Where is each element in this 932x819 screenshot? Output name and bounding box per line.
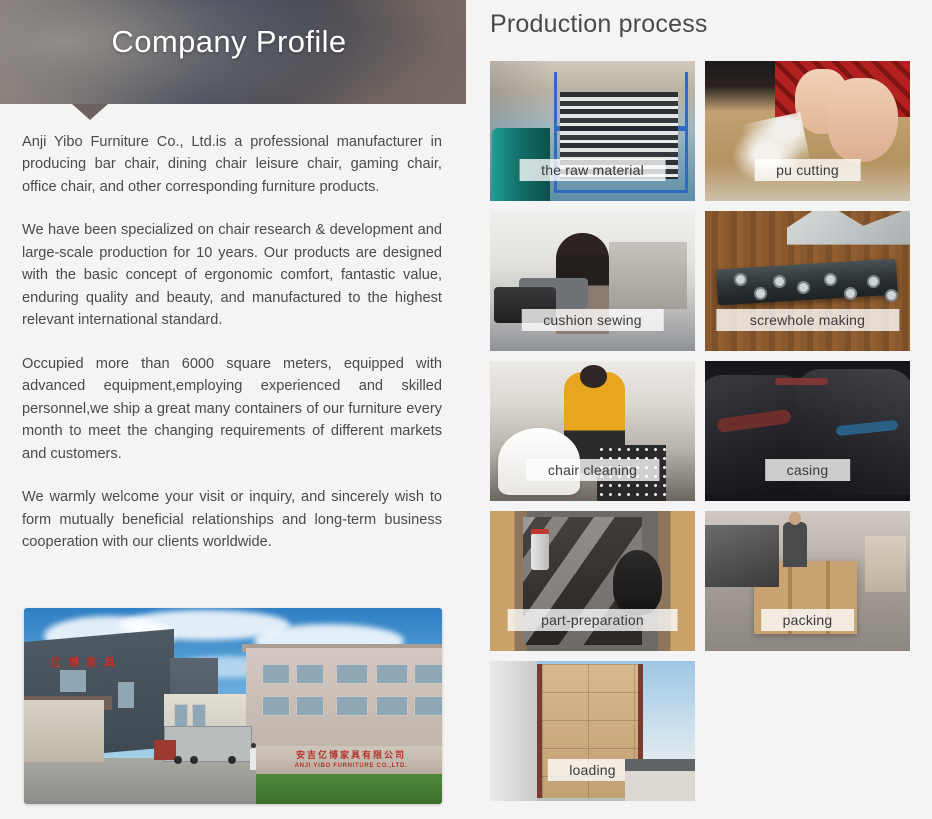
window — [336, 696, 368, 716]
process-step-pu-cutting[interactable]: pu cutting — [705, 61, 910, 201]
step-caption: screwhole making — [716, 309, 899, 331]
screw-hole — [734, 273, 747, 286]
window — [414, 696, 442, 716]
paragraph-2: We have been specialized on chair resear… — [22, 219, 442, 331]
window — [376, 696, 408, 716]
left-column: Company Profile Anji Yibo Furniture Co.,… — [0, 0, 466, 819]
screw-hole — [867, 275, 880, 288]
process-step-cushion-sewing[interactable]: cushion sewing — [490, 211, 695, 351]
process-step-chair-cleaning[interactable]: chair cleaning — [490, 361, 695, 501]
process-step-screwhole-making[interactable]: screwhole making — [705, 211, 910, 351]
chair-trim — [717, 409, 792, 433]
hand — [828, 78, 898, 162]
window — [376, 664, 408, 684]
window — [192, 704, 206, 728]
lawn — [256, 774, 442, 804]
wall-sign-cn: 安吉亿博家具有限公司 — [296, 752, 406, 761]
window — [60, 670, 86, 692]
screw-hole — [754, 287, 767, 300]
step-caption: part-preparation — [507, 609, 678, 631]
workshop-background — [609, 242, 687, 309]
window — [174, 704, 188, 728]
spray-can — [531, 533, 549, 569]
step-caption: the raw material — [519, 159, 666, 181]
screw-hole — [773, 275, 786, 288]
chair-trim — [775, 378, 828, 385]
step-caption: packing — [761, 609, 855, 631]
window — [296, 696, 324, 716]
wall-sign-en: ANJI YIBO FURNITURE CO.,LTD. — [295, 763, 408, 769]
process-step-part-preparation[interactable]: part-preparation — [490, 511, 695, 651]
building-sign-cn: 亿博家具 — [50, 654, 122, 670]
right-column: Production process the raw material pu c… — [466, 0, 932, 819]
hero-notch-triangle — [72, 104, 108, 120]
production-process-title: Production process — [490, 10, 708, 39]
process-step-casing[interactable]: casing — [705, 361, 910, 501]
process-step-loading[interactable]: loading — [490, 661, 695, 801]
truck-wheel — [190, 756, 198, 764]
process-step-raw-material[interactable]: the raw material — [490, 61, 695, 201]
paragraph-1: Anji Yibo Furniture Co., Ltd.is a profes… — [22, 131, 442, 198]
window — [414, 664, 442, 684]
truck-wheel — [228, 756, 236, 764]
factory-wall-sign: 安吉亿博家具有限公司 ANJI YIBO FURNITURE CO.,LTD. — [256, 746, 442, 774]
truck-wheel — [174, 756, 182, 764]
screw-hole — [844, 287, 857, 300]
step-caption: pu cutting — [754, 159, 861, 181]
window — [262, 696, 290, 716]
step-caption: cushion sewing — [521, 309, 664, 331]
company-description: Anji Yibo Furniture Co., Ltd.is a profes… — [22, 131, 442, 554]
screw-hole — [824, 273, 837, 286]
window — [296, 664, 324, 684]
page-title: Company Profile — [0, 24, 466, 60]
building-roof — [625, 759, 695, 801]
paragraph-4: We warmly welcome your visit or inquiry,… — [22, 486, 442, 553]
window — [118, 682, 134, 708]
paragraph-3: Occupied more than 6000 square meters, e… — [22, 353, 442, 465]
worker-head — [580, 365, 607, 387]
company-profile-page: Company Profile Anji Yibo Furniture Co.,… — [0, 0, 932, 819]
window — [262, 664, 290, 684]
chair-trim — [836, 419, 898, 435]
process-step-packing[interactable]: packing — [705, 511, 910, 651]
step-caption: loading — [547, 759, 638, 781]
window — [336, 664, 368, 684]
truck-cab — [154, 740, 176, 760]
screw-hole — [885, 289, 898, 302]
carton-box — [865, 536, 906, 592]
step-caption: chair cleaning — [526, 459, 659, 481]
worker-figure — [783, 522, 808, 567]
guardhouse — [24, 700, 104, 762]
sewing-machine — [519, 278, 589, 309]
screw-hole — [797, 281, 810, 294]
factory-exterior-photo: 亿博家具 — [24, 608, 442, 804]
step-caption: casing — [765, 459, 851, 481]
production-process-grid: the raw material pu cutting cushion sewi… — [490, 61, 910, 801]
company-profile-hero-banner: Company Profile — [0, 0, 466, 104]
